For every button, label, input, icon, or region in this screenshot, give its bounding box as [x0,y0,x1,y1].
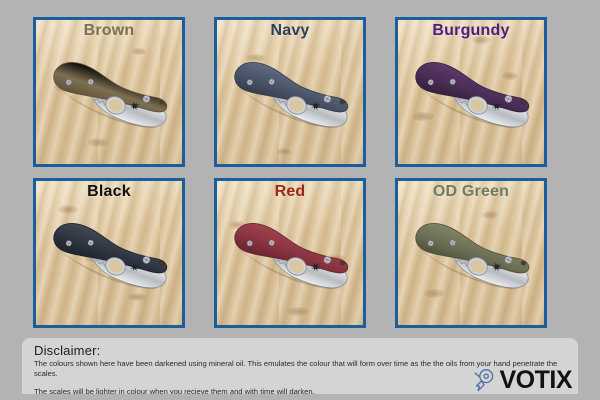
card-label: Black [36,183,182,201]
votix-bird-mark-icon [472,367,498,394]
product-card-grid: BrownNavyBurgundyBlackRedOD Green [33,17,567,330]
disclaimer-paragraph-2: The scales will be lighter in colour whe… [34,387,454,394]
brand-name: VOTIX [499,368,572,393]
wood-grain-knot [88,138,108,147]
card-label: OD Green [398,183,544,201]
wood-grain-knot [412,112,434,121]
disclaimer-title: Disclaimer: [34,343,566,358]
wood-grain-knot [424,289,444,298]
product-card-red[interactable]: Red [214,178,366,328]
brand-logo: VOTIX [472,367,572,394]
card-label: Navy [217,22,363,40]
disclaimer-panel: Disclaimer: The colours shown here have … [22,338,578,394]
wood-grain-knot [277,148,291,155]
product-card-brown[interactable]: Brown [33,17,185,167]
card-label: Red [217,183,363,201]
wood-grain-knot [132,48,146,55]
card-label: Brown [36,22,182,40]
wood-grain-knot [287,307,309,316]
product-card-black[interactable]: Black [33,178,185,328]
product-card-burgundy[interactable]: Burgundy [395,17,547,167]
product-card-od-green[interactable]: OD Green [395,178,547,328]
card-label: Burgundy [398,22,544,40]
wood-grain-knot [482,211,498,219]
product-card-navy[interactable]: Navy [214,17,366,167]
